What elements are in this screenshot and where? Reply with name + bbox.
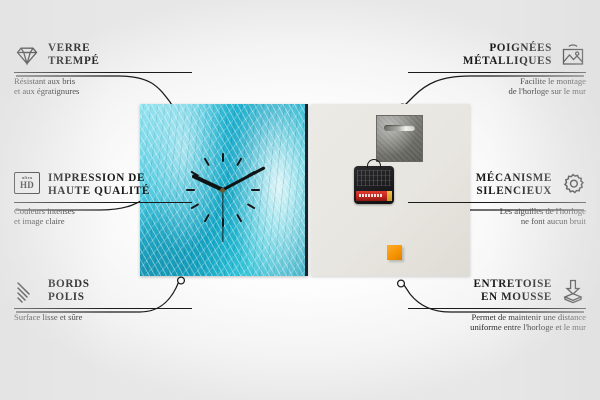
feature-title: MÉCANISME SILENCIEUX	[476, 172, 552, 197]
feature-divider	[14, 308, 192, 309]
feature-desc: Les aiguilles de l'horloge ne font aucun…	[408, 206, 586, 226]
gear-icon	[560, 172, 586, 198]
feature-desc: Couleurs intenses et image claire	[14, 206, 192, 226]
second-hand	[222, 190, 223, 242]
mechanism-loop	[367, 159, 381, 168]
feature-divider	[14, 72, 192, 73]
feature-impression-haute-qualite: ultra HD IMPRESSION DE HAUTE QUALITÉ Cou…	[14, 172, 192, 226]
ultra-hd-icon-large-label: HD	[20, 181, 34, 190]
feature-verre-trempe: VERRE TREMPÉ Résistant aux bris et aux é…	[14, 42, 192, 96]
feature-title: ENTRETOISE EN MOUSSE	[473, 278, 552, 303]
picture-hanger-icon	[560, 42, 586, 68]
clock-mechanism	[354, 166, 394, 204]
feature-desc: Surface lisse et sûre	[14, 312, 192, 322]
feature-mecanisme-silencieux: MÉCANISME SILENCIEUX Les aiguilles de l'…	[408, 172, 586, 226]
hanger-slot	[384, 125, 415, 131]
feature-title: VERRE TREMPÉ	[48, 42, 99, 67]
hands-cap	[220, 188, 225, 193]
feature-desc: Facilite le montage de l'horloge sur le …	[408, 76, 586, 96]
battery-label	[359, 194, 383, 197]
feature-title: IMPRESSION DE HAUTE QUALITÉ	[48, 172, 150, 197]
ultra-hd-icon: ultra HD	[14, 172, 40, 198]
feature-divider	[14, 202, 192, 203]
polished-edges-icon	[14, 278, 40, 304]
connector-dot-6	[398, 280, 405, 287]
feature-divider	[408, 202, 586, 203]
feature-title: POIGNÉES MÉTALLIQUES	[463, 42, 552, 67]
foam-spacer-icon	[560, 278, 586, 304]
metal-hanger-plate	[376, 115, 423, 162]
feature-poignees-metalliques: POIGNÉES MÉTALLIQUES Facilite le montage…	[408, 42, 586, 96]
infographic-canvas: VERRE TREMPÉ Résistant aux bris et aux é…	[0, 0, 600, 400]
diamond-icon	[14, 42, 40, 68]
feature-desc: Permet de maintenir une distance uniform…	[408, 312, 586, 332]
mechanism-texture	[357, 170, 391, 186]
feature-divider	[408, 308, 586, 309]
feature-entretoise-en-mousse: ENTRETOISE EN MOUSSE Permet de maintenir…	[408, 278, 586, 332]
feature-desc: Résistant aux bris et aux égratignures	[14, 76, 192, 96]
feature-bords-polis: BORDS POLIS Surface lisse et sûre	[14, 278, 192, 322]
battery	[356, 191, 392, 201]
feature-title: BORDS POLIS	[48, 278, 90, 303]
feature-divider	[408, 72, 586, 73]
foam-spacer	[387, 245, 402, 260]
battery-tip	[387, 191, 392, 201]
